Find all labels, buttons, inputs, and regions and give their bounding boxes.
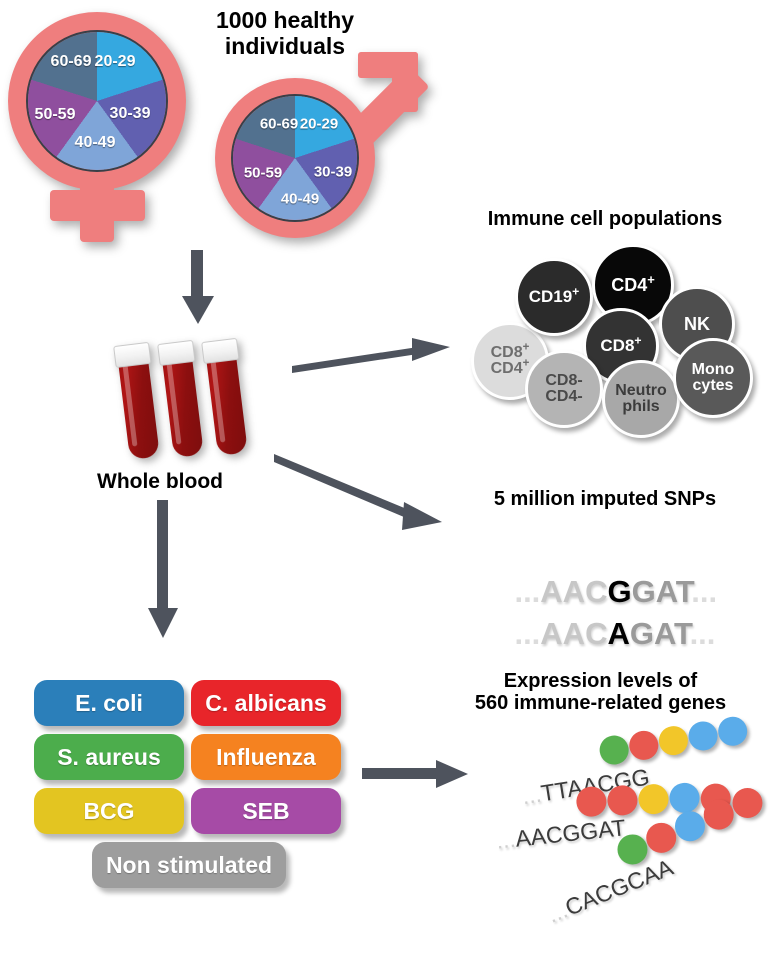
- stimulus-s-aureus[interactable]: S. aureus: [34, 734, 184, 780]
- expression-strands: ...TTAACGG ...AACGGAT ...CACGCAA: [450, 745, 770, 920]
- immune-cell-cd19: CD19+: [515, 258, 593, 336]
- snp-prefix: ...: [514, 616, 540, 651]
- pie-label-40-49-male: 40-49: [281, 191, 319, 208]
- female-crossbar: [50, 190, 145, 221]
- stimulus-seb[interactable]: SEB: [191, 788, 341, 834]
- pie-label-60-69-male: 60-69: [260, 116, 298, 133]
- pie-label-30-39-male: 30-39: [314, 164, 352, 181]
- pie-label-20-29-male: 20-29: [300, 116, 338, 133]
- immune-cell-label: CD4+: [611, 276, 655, 294]
- snp-right: GAT: [630, 616, 690, 651]
- snp-suffix: ...: [690, 616, 716, 651]
- blood-tube: [160, 340, 204, 458]
- blood-tubes: [108, 340, 258, 470]
- pie-label-20-29: 20-29: [95, 53, 136, 71]
- expression-bead: [657, 724, 690, 757]
- expression-bead: [716, 715, 749, 748]
- blood-tube: [116, 342, 160, 460]
- label-whole-blood: Whole blood: [60, 470, 260, 494]
- stimulation-panel: E. coli C. albicans S. aureus Influenza …: [34, 680, 344, 900]
- pie-label-30-39: 30-39: [110, 105, 151, 123]
- immune-cell-label: CD8+CD4+: [491, 345, 530, 378]
- arrow-cohort-to-blood: [178, 250, 218, 326]
- pie-label-40-49: 40-49: [75, 134, 116, 152]
- immune-cell-cluster: CD8+CD4+ CD19+ CD4+ NK CD8+ CD8-CD4- Neu…: [465, 240, 765, 420]
- strand-bases: CACGCAA: [561, 854, 676, 921]
- female-symbol: 20-29 30-39 40-49 50-59 60-69: [8, 12, 188, 242]
- stimulus-influenza[interactable]: Influenza: [191, 734, 341, 780]
- pie-label-50-59-male: 50-59: [244, 165, 282, 182]
- immune-cell-label: CD8-CD4-: [545, 373, 582, 406]
- immune-cell-label: Monocytes: [692, 362, 735, 395]
- immune-cell-label: Neutrophils: [615, 383, 667, 416]
- snp-sequence-row: ...AACAGAT...: [480, 580, 715, 688]
- arrow-blood-to-snps: [274, 452, 444, 542]
- stimulus-non-stimulated[interactable]: Non stimulated: [92, 842, 286, 888]
- immune-cell-monocytes: Monocytes: [673, 338, 753, 418]
- immune-cell-label: NK: [684, 315, 710, 333]
- snp-variant: A: [607, 616, 629, 651]
- tube-cap: [157, 340, 195, 366]
- section-title-immune: Immune cell populations: [440, 208, 770, 230]
- pie-label-50-59: 50-59: [35, 106, 76, 124]
- immune-cell-label: CD19+: [529, 288, 580, 305]
- section-title-snps: 5 million imputed SNPs: [440, 488, 770, 510]
- strand-bases: AACGGAT: [514, 814, 627, 851]
- snp-left: AAC: [540, 616, 607, 651]
- blood-tube: [204, 338, 248, 456]
- stimulus-bcg[interactable]: BCG: [34, 788, 184, 834]
- immune-cell-cd8cd4-double-negative: CD8-CD4-: [525, 350, 603, 428]
- snp-sequences: ...AACGGAT... ...AACAGAT...: [480, 538, 760, 623]
- arrow-blood-to-stimuli: [143, 500, 183, 640]
- immune-cell-label: CD8+: [600, 337, 641, 354]
- tube-cap: [201, 338, 239, 364]
- expression-bead: [668, 781, 701, 814]
- stimulus-c-albicans[interactable]: C. albicans: [191, 680, 341, 726]
- pie-label-60-69: 60-69: [51, 53, 92, 71]
- stimulus-e-coli[interactable]: E. coli: [34, 680, 184, 726]
- male-symbol: 20-29 30-39 40-49 50-59 60-69: [207, 60, 427, 250]
- male-arrow-head-side: [392, 52, 418, 112]
- expression-bead: [686, 719, 719, 752]
- tube-cap: [113, 342, 151, 368]
- immune-cell-neutrophils: Neutrophils: [602, 360, 680, 438]
- arrow-blood-to-immune: [292, 330, 452, 380]
